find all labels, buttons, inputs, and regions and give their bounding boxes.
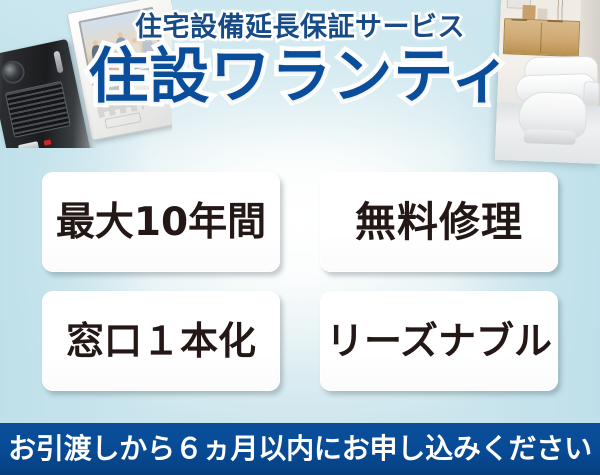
promo-banner: 住宅設備延長保証サービス 住設ワランティ 最大10年間 無料修理 窓口１本化 リ… [0,0,600,475]
service-subtitle: 住宅設備延長保証サービス [0,14,600,41]
feature-box-single-contact: 窓口１本化 [42,291,280,391]
feature-label: リーズナブル [326,322,552,360]
feature-box-grid: 最大10年間 無料修理 窓口１本化 リーズナブル [42,172,558,391]
application-deadline-text: お引渡しから６ヵ月以内にお申し込みください [8,435,592,463]
toilet-base [523,129,575,145]
feature-box-max-10-years: 最大10年間 [42,172,280,272]
doorbell-button [18,141,39,148]
application-deadline-banner: お引渡しから６ヵ月以内にお申し込みください [0,423,600,475]
feature-box-reasonable: リーズナブル [320,291,558,391]
feature-label: 無料修理 [355,202,523,243]
header-text-group: 住宅設備延長保証サービス 住設ワランティ [0,14,600,108]
page-title: 住設ワランティ [0,47,600,108]
feature-label: 窓口１本化 [66,322,256,360]
feature-label: 最大10年間 [56,203,266,242]
status-led-icon [44,139,52,145]
feature-box-free-repair: 無料修理 [320,172,558,272]
